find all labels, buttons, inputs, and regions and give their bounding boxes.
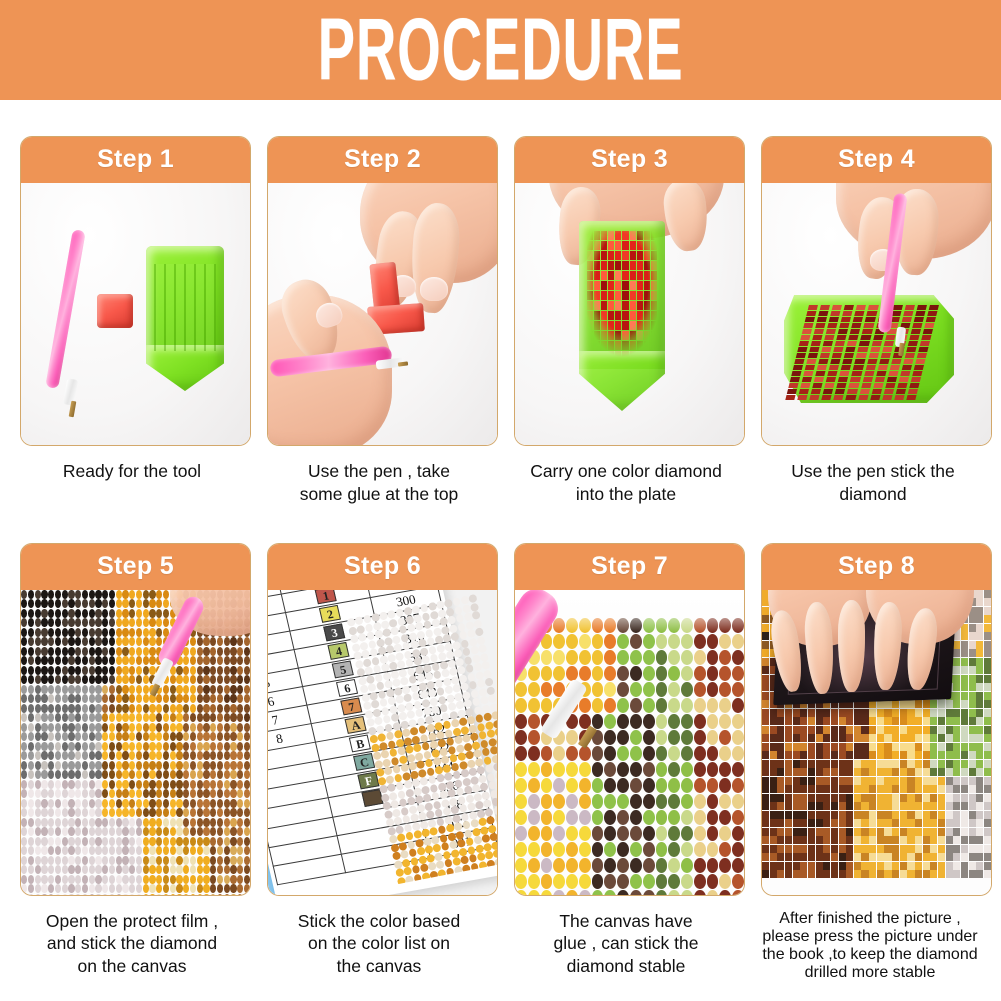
step-7-header-label: Step 7: [591, 552, 668, 581]
steps-row-2: Step 5 Open the protect film , and stick…: [0, 506, 1001, 983]
step-card-4: Step 4 Use the pen stick the: [761, 136, 992, 506]
caption-line: Use the pen stick the: [751, 460, 996, 483]
step-card-6: Step 6 Serial Symbol DMC 112230033307443…: [267, 543, 498, 983]
step-3-header: Step 3: [514, 136, 745, 183]
step-1-header-label: Step 1: [97, 145, 174, 174]
symbol-swatch: 3: [323, 623, 345, 641]
step-3-caption: Carry one color diamond into the plate: [504, 460, 749, 506]
step-8-header-label: Step 8: [838, 552, 915, 581]
caption-line: The canvas have: [504, 910, 749, 933]
step-card-2: Step 2: [267, 136, 498, 506]
caption-line: drilled more stable: [741, 964, 999, 982]
step-5-header-label: Step 5: [97, 552, 174, 581]
step-4-header-label: Step 4: [838, 145, 915, 174]
step-7-card: Step 7: [514, 543, 745, 896]
symbol-swatch: 2: [319, 604, 341, 622]
step-6-caption: Stick the color based on the color list …: [257, 910, 502, 978]
step-1-photo: [21, 183, 250, 445]
step-1-caption: Ready for the tool: [10, 460, 255, 483]
green-tray: [784, 295, 954, 403]
step-5-photo: [21, 590, 250, 895]
caption-line: the canvas: [257, 955, 502, 978]
symbol-swatch: 4: [328, 641, 350, 659]
step-7-caption: The canvas have glue , can stick the dia…: [504, 910, 749, 978]
step-8-card: Step 8: [761, 543, 992, 896]
caption-line: Stick the color based: [257, 910, 502, 933]
step-2-header: Step 2: [267, 136, 498, 183]
step-card-1: Step 1 Ready for the tool: [20, 136, 251, 506]
step-7-photo: [515, 590, 744, 895]
finger: [838, 600, 865, 692]
caption-line: Ready for the tool: [10, 460, 255, 483]
step-1-card: Step 1: [20, 136, 251, 446]
symbol-swatch: B: [349, 734, 371, 752]
caption-line: glue , can stick the: [504, 932, 749, 955]
caption-line: diamond stable: [504, 955, 749, 978]
caption-line: and stick the diamond: [10, 932, 255, 955]
fingernail: [420, 277, 448, 301]
page-header-banner: PROCEDURE: [0, 0, 1001, 100]
step-6-card: Step 6 Serial Symbol DMC 112230033307443…: [267, 543, 498, 896]
caption-line: into the plate: [504, 483, 749, 506]
caption-line: on the canvas: [10, 955, 255, 978]
step-2-header-label: Step 2: [344, 145, 421, 174]
step-4-header: Step 4: [761, 136, 992, 183]
caption-line: the book ,to keep the diamond: [741, 946, 999, 964]
closeup-diamond-mosaic: [515, 618, 744, 895]
glue-wax-square: [97, 294, 133, 328]
step-2-photo: [268, 183, 497, 445]
step-3-photo: [515, 183, 744, 445]
caption-line: on the color list on: [257, 932, 502, 955]
symbol-swatch: A: [345, 715, 367, 733]
caption-line: diamond: [751, 483, 996, 506]
step-6-photo: Serial Symbol DMC 1122300333074431055581…: [268, 590, 497, 895]
red-diamonds: [587, 231, 657, 381]
caption-line: After finished the picture ,: [741, 910, 999, 928]
symbol-swatch: 6: [336, 678, 358, 696]
step-2-card: Step 2: [267, 136, 498, 446]
step-8-header: Step 8: [761, 543, 992, 590]
step-3-header-label: Step 3: [591, 145, 668, 174]
step-8-caption: After finished the picture , please pres…: [741, 910, 999, 983]
step-5-card: Step 5: [20, 543, 251, 896]
step-4-card: Step 4: [761, 136, 992, 446]
step-4-caption: Use the pen stick the diamond: [751, 460, 996, 506]
step-1-header: Step 1: [20, 136, 251, 183]
step-4-photo: [762, 183, 991, 445]
page-title: PROCEDURE: [318, 6, 684, 94]
color-chart-area: Serial Symbol DMC 1122300333074431055581…: [268, 590, 497, 895]
caption-line: Open the protect film ,: [10, 910, 255, 933]
step-6-header: Step 6: [267, 543, 498, 590]
step-card-7: Step 7 The canvas have glue , can stick …: [514, 543, 745, 983]
step-card-5: Step 5 Open the protect film , and stick…: [20, 543, 251, 983]
steps-row-1: Step 1 Ready for the tool: [0, 100, 1001, 506]
step-7-header: Step 7: [514, 543, 745, 590]
caption-line: Use the pen , take: [257, 460, 502, 483]
step-6-header-label: Step 6: [344, 552, 421, 581]
green-tray: [146, 246, 224, 391]
caption-line: please press the picture under: [741, 928, 999, 946]
step-card-8: Step 8 After finished the picture , pl: [761, 543, 992, 983]
step-2-caption: Use the pen , take some glue at the top: [257, 460, 502, 506]
caption-line: Carry one color diamond: [504, 460, 749, 483]
step-5-caption: Open the protect film , and stick the di…: [10, 910, 255, 978]
step-card-3: Step 3 Carry one color diamond into the …: [514, 136, 745, 506]
step-5-header: Step 5: [20, 543, 251, 590]
caption-line: some glue at the top: [257, 483, 502, 506]
symbol-swatch: 7: [340, 697, 362, 715]
symbol-swatch: 1: [315, 590, 337, 604]
diamond-rows: [787, 305, 939, 393]
step-3-card: Step 3: [514, 136, 745, 446]
step-8-photo: [762, 590, 991, 895]
symbol-swatch: 5: [332, 660, 354, 678]
